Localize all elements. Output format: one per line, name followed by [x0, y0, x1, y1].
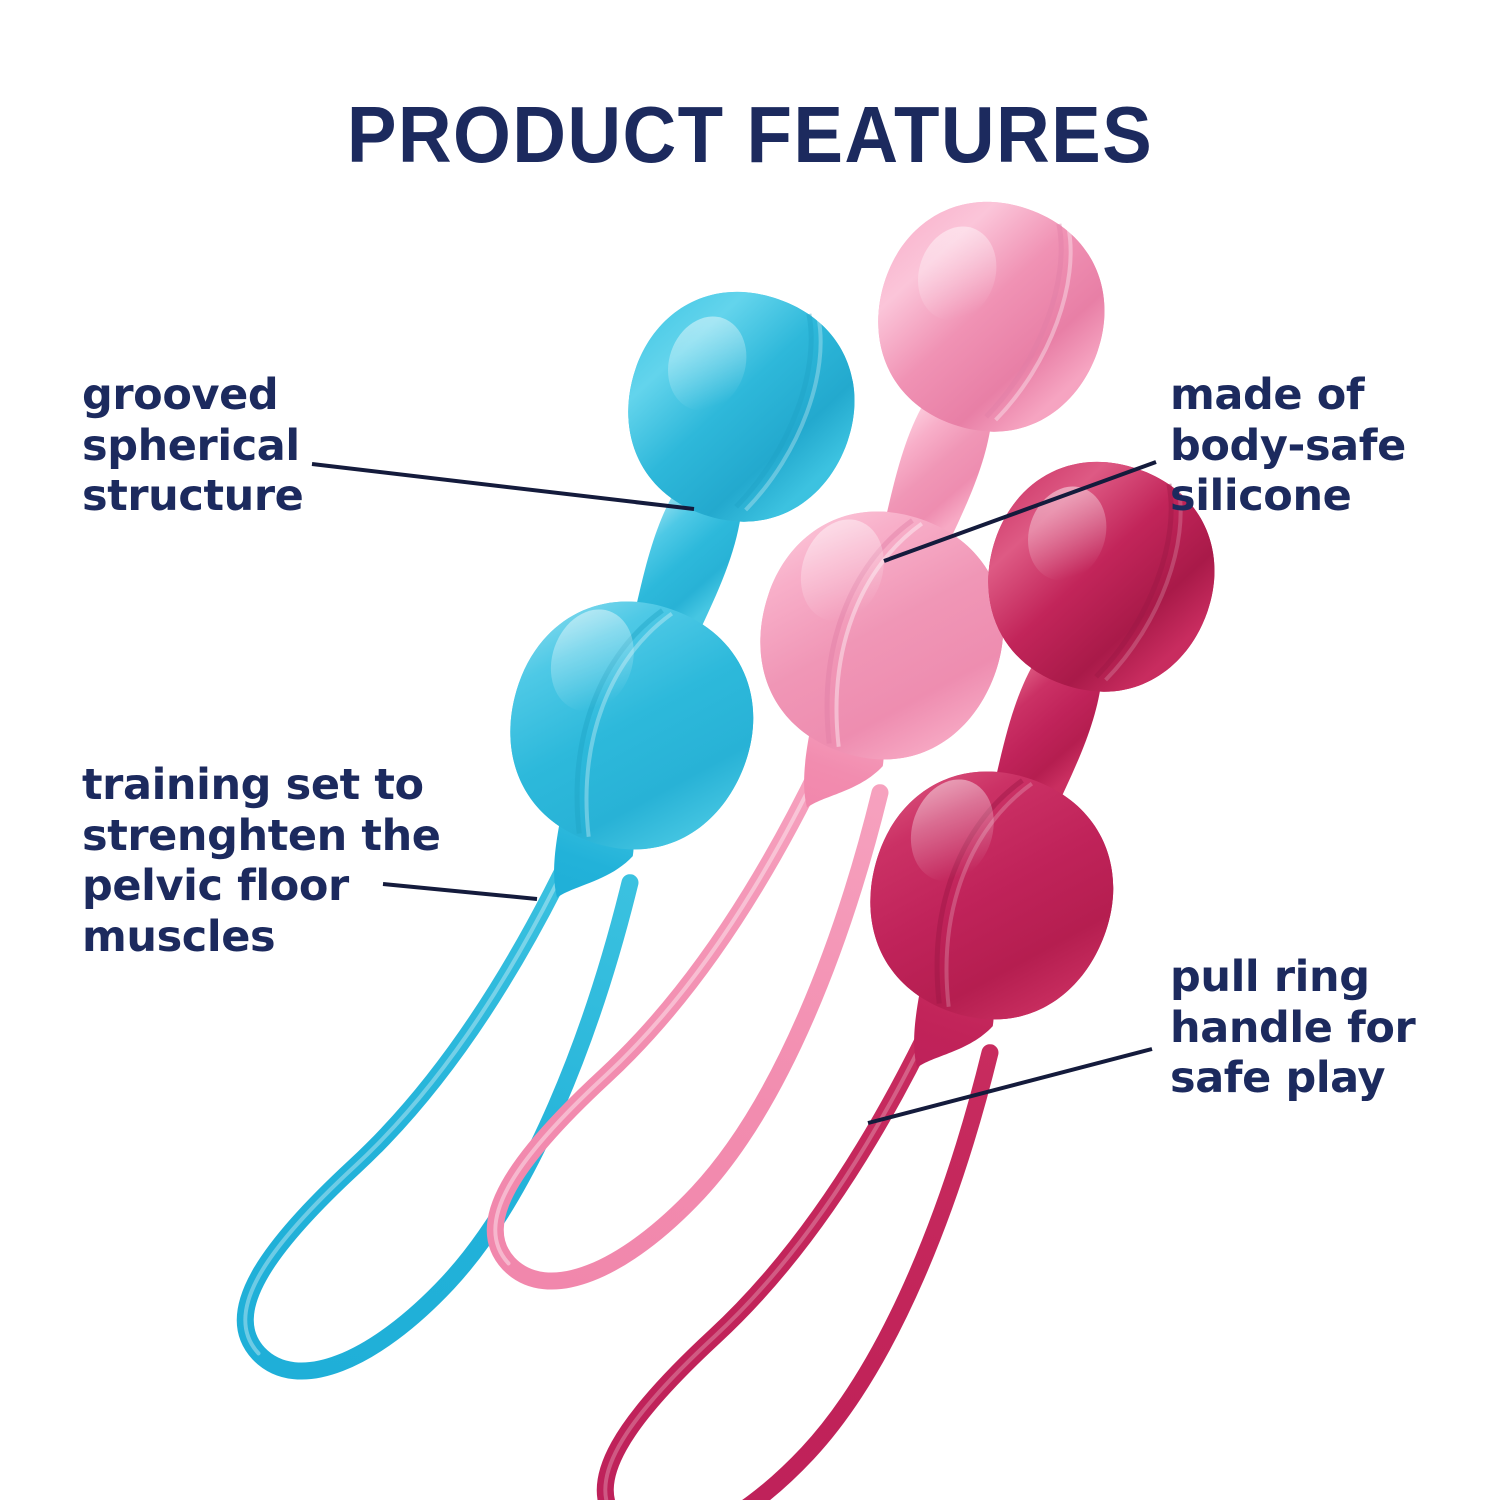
product-features-infographic: PRODUCT FEATURES — [0, 0, 1500, 1500]
callout-label-grooved-spherical-structure: grooved spherical structure — [82, 370, 462, 522]
callout-label-made-of-body-safe-silicone: made of body-safe silicone — [1170, 370, 1500, 522]
product-light-pink-lower-sphere — [728, 480, 1035, 791]
product-light-pink-upper-sphere — [848, 173, 1134, 462]
product-cyan-lower-sphere — [478, 570, 785, 881]
product-cyan-upper-sphere — [598, 263, 884, 552]
callout-label-pull-ring-handle: pull ring handle for safe play — [1170, 952, 1500, 1104]
product-illustration-group — [0, 0, 1500, 1500]
callout-label-training-set-pelvic-floor: training set to strenghten the pelvic fl… — [82, 760, 482, 963]
